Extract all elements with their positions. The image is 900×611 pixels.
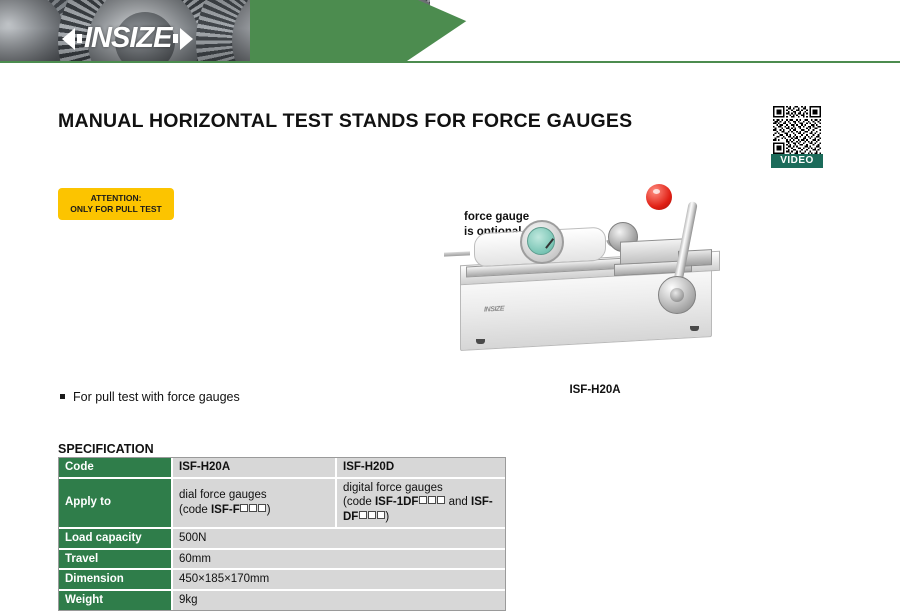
logo-bar [173, 34, 178, 43]
code-suffix: ) [267, 504, 271, 516]
arrow-left-icon [62, 28, 75, 50]
attention-line-1: ATTENTION: [62, 193, 170, 204]
video-label: VIDEO [771, 154, 823, 168]
product-body-logo: INSIZE [484, 305, 504, 313]
code-boxes [418, 496, 445, 508]
gauge-needle [545, 238, 554, 248]
page-title: MANUAL HORIZONTAL TEST STANDS FOR FORCE … [58, 110, 632, 133]
table-row: Weight 9kg [59, 591, 505, 610]
lever-ball-highlight [653, 189, 660, 194]
code-prefix: (code [343, 496, 375, 508]
cell-dimension: 450×185×170mm [173, 570, 505, 591]
code-suffix: ) [385, 511, 389, 523]
code-conjunction: and [445, 496, 471, 508]
product-caption: ISF-H20A [440, 384, 750, 396]
banner-rule-green [0, 61, 900, 63]
table-row: Travel 60mm [59, 550, 505, 571]
attention-line-2: ONLY FOR PULL TEST [62, 204, 170, 215]
lever-ball-handle [646, 184, 672, 210]
table-row: Load capacity 500N [59, 529, 505, 550]
bullet-square-icon [60, 394, 65, 399]
product-image: force gauge is optional INSIZE [440, 178, 750, 378]
page-banner: INSIZE [0, 0, 900, 63]
gauge-dial [520, 220, 564, 264]
gauge-face [527, 227, 555, 255]
code-isf-f: ISF-F [211, 504, 240, 516]
specification-title: SPECIFICATION [58, 442, 154, 456]
video-qr-block[interactable]: VIDEO [771, 106, 823, 168]
cell-weight: 9kg [173, 591, 505, 610]
row-label-weight: Weight [59, 591, 173, 610]
apply-to-dial-line-2: (code ISF-F) [179, 503, 329, 518]
banner-white-field [404, 0, 900, 63]
cell-travel: 60mm [173, 550, 505, 571]
code-boxes [358, 511, 385, 523]
code-isf-1df: ISF-1DF [375, 496, 418, 508]
row-label-code: Code [59, 458, 173, 479]
feature-text: For pull test with force gauges [73, 390, 240, 404]
cell-load-capacity: 500N [173, 529, 505, 550]
code-prefix: (code [179, 504, 211, 516]
row-label-apply-to: Apply to [59, 479, 173, 529]
stand-foot [690, 326, 699, 331]
cell-code-isf-h20d: ISF-H20D [337, 458, 505, 479]
lever-hub [658, 276, 696, 314]
cell-code-isf-h20a: ISF-H20A [173, 458, 337, 479]
lever-hub-center [670, 288, 684, 302]
qr-code-icon[interactable] [771, 106, 823, 154]
row-label-load-capacity: Load capacity [59, 529, 173, 550]
attention-badge: ATTENTION: ONLY FOR PULL TEST [58, 188, 174, 220]
apply-to-dial-line-1: dial force gauges [179, 488, 329, 503]
feature-list-item: For pull test with force gauges [60, 390, 240, 404]
row-label-travel: Travel [59, 550, 173, 571]
stand-foot [476, 339, 485, 344]
cell-apply-to-dial: dial force gauges (code ISF-F) [173, 479, 337, 529]
table-row: Dimension 450×185×170mm [59, 570, 505, 591]
code-boxes [240, 504, 267, 516]
table-row: Code ISF-H20A ISF-H20D [59, 458, 505, 479]
arrow-right-icon [180, 28, 193, 50]
apply-to-digital-line-1: digital force gauges [343, 481, 499, 496]
table-row: Apply to dial force gauges (code ISF-F) … [59, 479, 505, 529]
gauge-stem [444, 251, 470, 256]
specification-table-wrapper: Code ISF-H20A ISF-H20D Apply to dial for… [58, 457, 506, 611]
insize-logo: INSIZE [62, 24, 193, 53]
row-label-dimension: Dimension [59, 570, 173, 591]
logo-text: INSIZE [84, 24, 171, 53]
cell-apply-to-digital: digital force gauges (code ISF-1DF and I… [337, 479, 505, 529]
logo-bar [77, 34, 82, 43]
callout-line-1: force gauge [464, 210, 529, 225]
specification-table: Code ISF-H20A ISF-H20D Apply to dial for… [59, 458, 505, 610]
apply-to-digital-line-2: (code ISF-1DF and ISF-DF) [343, 495, 499, 524]
